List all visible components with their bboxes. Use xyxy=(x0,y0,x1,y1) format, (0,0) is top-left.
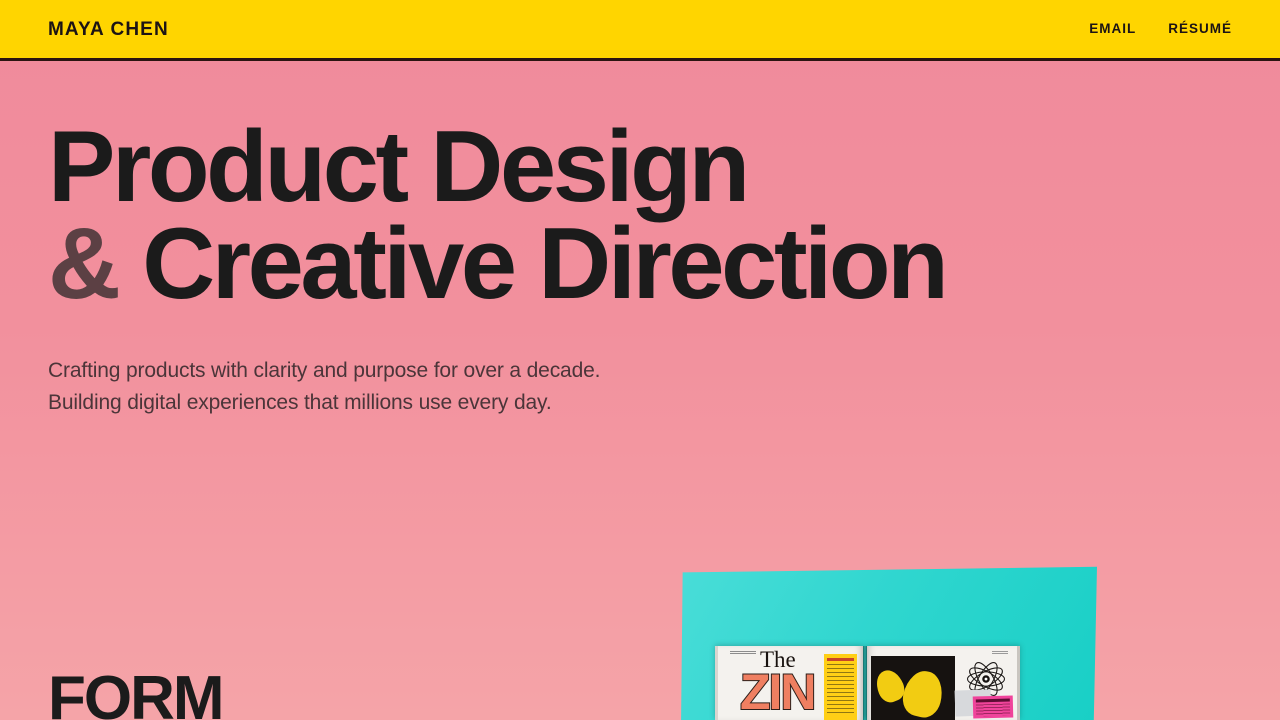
hero-subtitle: Crafting products with clarity and purpo… xyxy=(48,355,1280,419)
magazine-title: ZIN xyxy=(740,667,815,717)
magazine-black-panel xyxy=(871,656,955,720)
pink-sticky-note xyxy=(973,695,1014,718)
headline-line-2: & Creative Direction xyxy=(48,216,1280,313)
sticky-note-text-lines xyxy=(976,704,1010,717)
subtitle-line-2: Building digital experiences that millio… xyxy=(48,387,1280,419)
subtitle-line-1: Crafting products with clarity and purpo… xyxy=(48,355,1280,387)
sidebar-text-lines xyxy=(827,664,854,716)
magazine-yellow-sidebar xyxy=(824,654,857,720)
sidebar-title-rule xyxy=(827,658,854,661)
main-navigation: EMAIL RÉSUMÉ xyxy=(1089,22,1232,36)
nav-link-resume[interactable]: RÉSUMÉ xyxy=(1168,22,1232,36)
magazine-folio-rule xyxy=(992,651,1008,654)
open-magazine: The ZIN xyxy=(715,646,1020,720)
site-header: MAYA CHEN EMAIL RÉSUMÉ xyxy=(0,0,1280,61)
hero-photo: The ZIN xyxy=(660,550,1280,720)
page-title: Product Design & Creative Direction xyxy=(48,119,1280,313)
sticky-note-title-rule xyxy=(976,699,1010,703)
magazine-header-rule xyxy=(730,651,756,655)
headline-line-2-text: Creative Direction xyxy=(118,208,946,320)
hero-section: Product Design & Creative Direction Craf… xyxy=(0,61,1280,419)
magazine-right-page xyxy=(867,646,1020,720)
nav-link-email[interactable]: EMAIL xyxy=(1089,22,1136,36)
headline-line-1: Product Design xyxy=(48,119,1280,216)
headline-ampersand: & xyxy=(48,208,118,320)
pear-shape-icon xyxy=(899,667,947,720)
magazine-left-page: The ZIN xyxy=(715,646,863,720)
brand-logo[interactable]: MAYA CHEN xyxy=(48,20,169,39)
section-heading-form: FORM xyxy=(48,668,223,720)
